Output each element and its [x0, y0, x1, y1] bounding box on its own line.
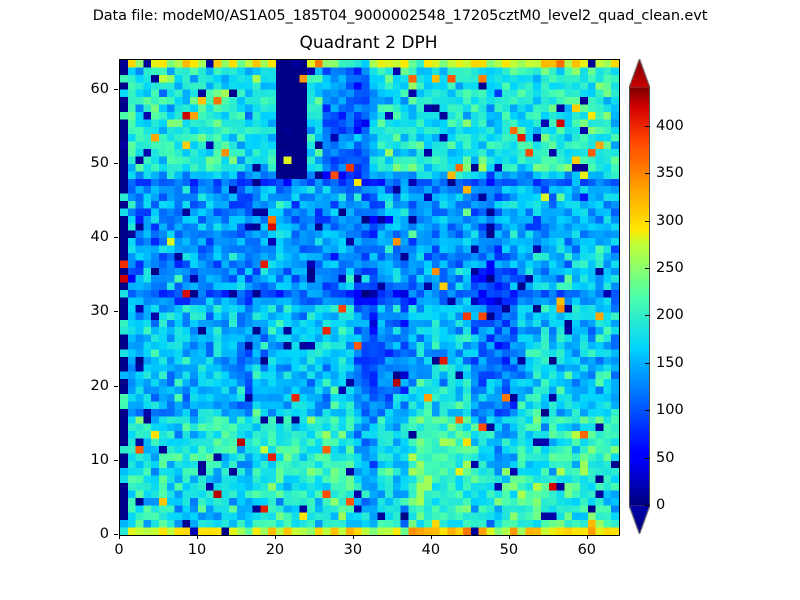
- colorbar-tick-mark: [645, 363, 650, 364]
- y-tick-mark: [114, 534, 118, 535]
- y-tick-label: 20: [57, 378, 109, 394]
- colorbar-tick-mark: [645, 173, 650, 174]
- y-tick-mark: [114, 311, 118, 312]
- x-tick-label: 30: [344, 542, 362, 558]
- y-tick-label: 50: [57, 155, 109, 171]
- x-tick-mark: [197, 535, 198, 539]
- x-tick-mark: [353, 535, 354, 539]
- colorbar-tick-label: 300: [656, 213, 684, 229]
- colorbar-tick-label: 100: [656, 402, 684, 418]
- colorbar-tick-label: 150: [656, 355, 684, 371]
- x-tick-mark: [431, 535, 432, 539]
- y-tick-mark: [114, 460, 118, 461]
- y-tick-label: 0: [57, 526, 109, 542]
- colorbar-tick-label: 200: [656, 307, 684, 323]
- colorbar-tick-mark: [645, 458, 650, 459]
- y-tick-label: 30: [57, 303, 109, 319]
- colorbar-tick-label: 50: [656, 450, 674, 466]
- colorbar-over-arrow-icon: [629, 59, 650, 88]
- y-tick-mark: [114, 237, 118, 238]
- x-tick-mark: [119, 535, 120, 539]
- colorbar-tick-label: 350: [656, 165, 684, 181]
- colorbar-gradient[interactable]: [629, 88, 650, 505]
- colorbar-tick-label: 400: [656, 118, 684, 134]
- heatmap-image[interactable]: [120, 60, 619, 535]
- y-tick-label: 10: [57, 452, 109, 468]
- x-tick-label: 20: [266, 542, 284, 558]
- x-tick-label: 0: [114, 542, 123, 558]
- colorbar-tick-mark: [645, 126, 650, 127]
- colorbar-tick-mark: [645, 315, 650, 316]
- x-tick-label: 10: [188, 542, 206, 558]
- colorbar[interactable]: [629, 59, 650, 534]
- y-tick-label: 60: [57, 81, 109, 97]
- x-tick-label: 40: [422, 542, 440, 558]
- colorbar-tick-mark: [645, 268, 650, 269]
- colorbar-tick-mark: [645, 221, 650, 222]
- y-tick-label: 40: [57, 229, 109, 245]
- y-tick-mark: [114, 386, 118, 387]
- figure-canvas: Data file: modeM0/AS1A05_185T04_90000025…: [0, 0, 800, 600]
- colorbar-tick-mark: [645, 505, 650, 506]
- x-tick-mark: [275, 535, 276, 539]
- data-file-suptitle: Data file: modeM0/AS1A05_185T04_90000025…: [0, 8, 800, 24]
- heatmap-axes[interactable]: [119, 59, 620, 536]
- colorbar-tick-label: 0: [656, 497, 665, 513]
- colorbar-under-arrow-icon: [629, 505, 650, 534]
- x-tick-label: 50: [500, 542, 518, 558]
- x-tick-label: 60: [578, 542, 596, 558]
- plot-title: Quadrant 2 DPH: [119, 33, 618, 53]
- colorbar-tick-mark: [645, 410, 650, 411]
- y-tick-mark: [114, 89, 118, 90]
- x-tick-mark: [587, 535, 588, 539]
- y-tick-mark: [114, 163, 118, 164]
- x-tick-mark: [509, 535, 510, 539]
- colorbar-tick-label: 250: [656, 260, 684, 276]
